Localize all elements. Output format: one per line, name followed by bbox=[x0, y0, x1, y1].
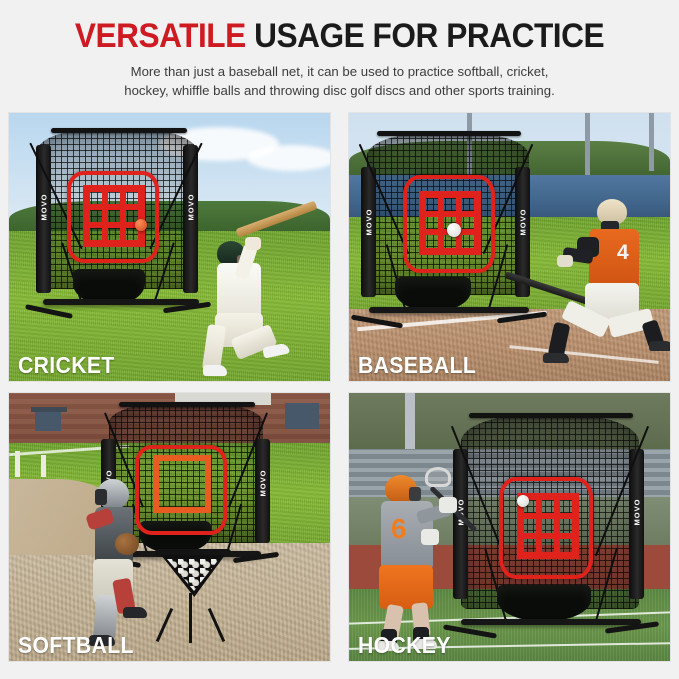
building-window bbox=[285, 403, 319, 429]
light-pole bbox=[649, 113, 654, 171]
panel-label-baseball: BASEBALL bbox=[358, 352, 476, 379]
header: VERSATILE USAGE FOR PRACTICE More than j… bbox=[0, 0, 679, 108]
net-top-bar bbox=[51, 128, 187, 133]
building-awning bbox=[31, 407, 67, 412]
panel-hockey[interactable]: MOVO MOVO bbox=[348, 392, 671, 662]
page-title-rest: USAGE FOR PRACTICE bbox=[246, 17, 604, 55]
target-cell bbox=[87, 225, 105, 243]
target-cell bbox=[105, 225, 123, 243]
promo-graphic: VERSATILE USAGE FOR PRACTICE More than j… bbox=[0, 0, 679, 679]
softball-catcher bbox=[81, 475, 151, 653]
mask-cage bbox=[95, 489, 107, 505]
target-grid bbox=[83, 185, 145, 247]
panel-label-hockey: HOCKEY bbox=[358, 632, 451, 659]
target-cell bbox=[459, 232, 477, 251]
cloud-icon bbox=[247, 145, 330, 171]
glove bbox=[245, 237, 261, 250]
shoe bbox=[203, 365, 227, 376]
target-cell bbox=[441, 195, 459, 214]
target-cell bbox=[557, 536, 575, 555]
caddy-leg bbox=[189, 593, 192, 643]
net-side-post-right[interactable]: MOVO bbox=[629, 449, 644, 599]
brand-logo: MOVO bbox=[186, 194, 195, 221]
subtitle: More than just a baseball net, it can be… bbox=[0, 62, 679, 100]
cricket-scene: MOVO MOVO bbox=[9, 113, 330, 381]
lacrosse-head bbox=[425, 467, 451, 487]
baseball-batter: 4 bbox=[545, 197, 670, 377]
target-cell bbox=[539, 516, 557, 535]
hockey-player: 6 bbox=[377, 463, 487, 653]
target-cell bbox=[423, 214, 441, 233]
lacrosse-ball bbox=[517, 495, 529, 507]
cleat bbox=[649, 341, 670, 351]
brand-logo: MOVO bbox=[632, 499, 641, 526]
net-ball-pocket bbox=[497, 585, 591, 621]
panel-label-cricket: CRICKET bbox=[18, 352, 115, 379]
net-side-post-right[interactable]: MOVO bbox=[255, 439, 270, 543]
target-cell bbox=[459, 195, 477, 214]
target-cell bbox=[105, 207, 123, 225]
target-cell bbox=[87, 189, 105, 207]
ball-caddy bbox=[155, 549, 231, 645]
mitt bbox=[115, 533, 139, 555]
target-cell bbox=[459, 214, 477, 233]
page-title-accent: VERSATILE bbox=[75, 17, 246, 55]
field-post bbox=[41, 455, 46, 477]
cleat bbox=[543, 353, 569, 363]
brand-logo: MOVO bbox=[364, 208, 373, 235]
baseball bbox=[447, 223, 461, 237]
target-cell bbox=[123, 189, 141, 207]
net-base-bar bbox=[369, 307, 529, 313]
brand-logo: MOVO bbox=[39, 194, 48, 221]
building-window bbox=[35, 411, 61, 431]
glove bbox=[439, 497, 457, 513]
cleat bbox=[123, 607, 147, 618]
page-title: VERSATILE USAGE FOR PRACTICE bbox=[24, 18, 655, 54]
subtitle-line-2: hockey, whiffle balls and throwing disc … bbox=[0, 81, 679, 100]
panel-softball[interactable]: MOVO MOVO bbox=[8, 392, 331, 662]
jersey-number: 6 bbox=[391, 513, 407, 545]
net-side-post-left[interactable]: MOVO bbox=[361, 167, 376, 297]
panel-grid: MOVO MOVO bbox=[8, 112, 671, 670]
target-cell bbox=[423, 232, 441, 251]
glove bbox=[421, 529, 439, 545]
softball-scene: MOVO MOVO bbox=[9, 393, 330, 661]
target-cell bbox=[557, 516, 575, 535]
subtitle-line-1: More than just a baseball net, it can be… bbox=[0, 62, 679, 81]
target-square bbox=[153, 455, 211, 513]
net-top-bar bbox=[469, 413, 633, 418]
target-cell bbox=[87, 207, 105, 225]
glove-hands bbox=[557, 255, 573, 267]
net-top-bar bbox=[119, 402, 255, 407]
light-pole bbox=[585, 113, 590, 177]
target-cell bbox=[423, 195, 441, 214]
target-cell bbox=[539, 536, 557, 555]
target-cell bbox=[521, 536, 539, 555]
cricket-batter bbox=[199, 213, 329, 381]
baseball-scene: MOVO MOVO bbox=[349, 113, 670, 381]
helmet-cage bbox=[409, 487, 421, 501]
panel-cricket[interactable]: MOVO MOVO bbox=[8, 112, 331, 382]
target-cell bbox=[521, 516, 539, 535]
caddy-balls bbox=[167, 559, 219, 591]
target-cell bbox=[539, 497, 557, 516]
brand-logo: MOVO bbox=[518, 208, 527, 235]
field-post bbox=[15, 451, 20, 477]
target-cell bbox=[105, 189, 123, 207]
caddy-leg bbox=[156, 608, 173, 642]
panel-baseball[interactable]: MOVO MOVO bbox=[348, 112, 671, 382]
net-ball-pocket bbox=[395, 277, 471, 311]
caddy-leg bbox=[208, 608, 225, 642]
hockey-scene: MOVO MOVO bbox=[349, 393, 670, 661]
net-base-bar bbox=[43, 299, 199, 305]
panel-label-softball: SOFTBALL bbox=[18, 632, 134, 659]
brand-logo: MOVO bbox=[258, 469, 267, 496]
cricket-ball bbox=[135, 219, 147, 231]
net-base-bar bbox=[461, 619, 641, 625]
target-cell bbox=[557, 497, 575, 516]
net-top-bar bbox=[377, 131, 521, 136]
jersey-number: 4 bbox=[617, 241, 629, 265]
